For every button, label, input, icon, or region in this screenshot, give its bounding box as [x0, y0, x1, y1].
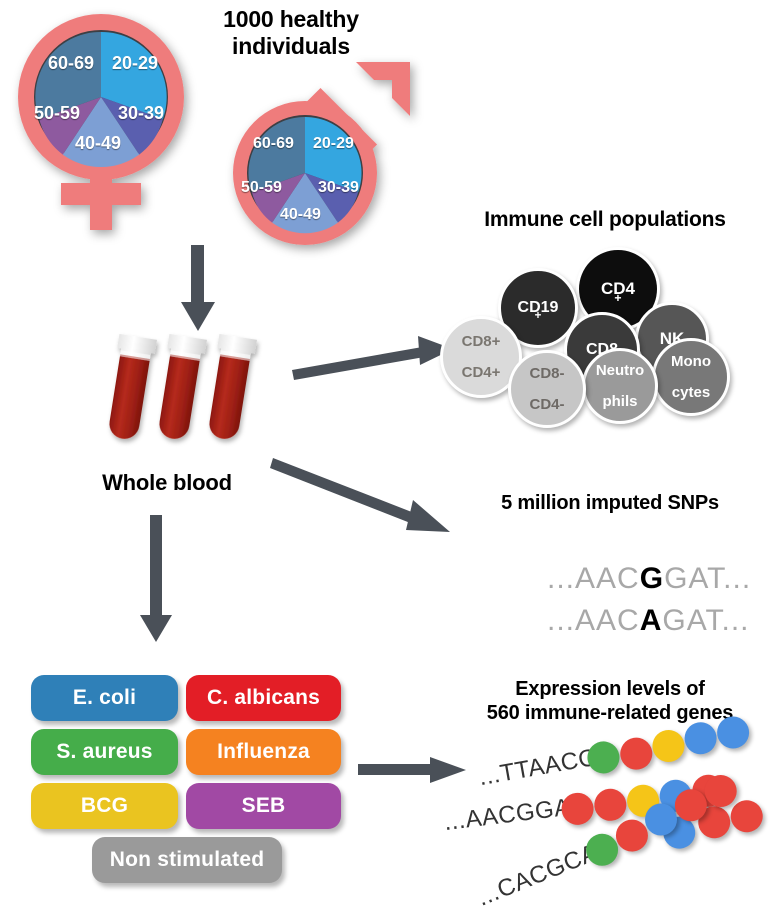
- stimulus-seb[interactable]: SEB: [186, 783, 341, 829]
- cell-cd8-pos-cd4-pos-line1: CD8+: [462, 334, 501, 349]
- snp-row2-suffix: GAT...: [662, 604, 749, 637]
- arrow-blood-to-stimuli: [132, 515, 182, 645]
- blood-tubes: [100, 330, 280, 460]
- expression-heading: Expression levels of 560 immune-related …: [455, 678, 765, 725]
- female-symbol-shape: [6, 8, 196, 238]
- whole-blood-label: Whole blood: [72, 470, 262, 496]
- female-age-pie: [35, 32, 166, 167]
- cell-monocytes-line1: Mono: [671, 354, 711, 369]
- blood-tube-3: [203, 334, 257, 442]
- snp-sequences: ...AACGGAT... ...AACAGAT...: [485, 528, 750, 610]
- male-age-pie: [248, 117, 361, 233]
- female-symbol: 20-29 30-39 40-49 50-59 60-69: [6, 8, 196, 238]
- immune-cell-cluster: CD4+ CD19+ NK CD8+ CD8+ CD4+ Mono cytes …: [440, 240, 770, 420]
- stimulus-c-albicans[interactable]: C. albicans: [186, 675, 341, 721]
- cell-cd8-pos-cd4-pos-line2: CD4+: [462, 365, 501, 380]
- strand-1-bead-3: [650, 727, 687, 764]
- snp-allele-row-2: ...AACAGAT...: [491, 570, 750, 672]
- cell-cd8-neg-cd4-neg-line1: CD8-: [529, 366, 564, 381]
- cell-neutrophils: Neutro phils: [582, 348, 658, 424]
- snp-row2-variant: A: [640, 604, 663, 637]
- stimulus-bcg-label: BCG: [81, 794, 128, 818]
- male-symbol: 20-29 30-39 40-49 50-59 60-69: [200, 48, 430, 248]
- cell-monocytes: Mono cytes: [652, 338, 730, 416]
- cell-neutrophils-line2: phils: [596, 394, 644, 409]
- stimulus-s-aureus-label: S. aureus: [56, 740, 152, 764]
- stimulus-non-stimulated-label: Non stimulated: [110, 848, 264, 872]
- stimulus-influenza-label: Influenza: [217, 740, 310, 764]
- cell-neutrophils-line1: Neutro: [596, 363, 644, 378]
- arrow-stimuli-to-expression: [358, 752, 468, 792]
- stimulus-e-coli-label: E. coli: [73, 686, 136, 710]
- expression-heading-line1: Expression levels of: [455, 678, 765, 702]
- stimulus-seb-label: SEB: [242, 794, 286, 818]
- stimulus-s-aureus[interactable]: S. aureus: [31, 729, 178, 775]
- stimuli-panel: E. coli C. albicans S. aureus Influenza …: [28, 672, 348, 902]
- arrow-blood-to-immune: [290, 325, 455, 385]
- cohort-heading-line1: 1000 healthy: [166, 6, 416, 33]
- snps-heading: 5 million imputed SNPs: [460, 492, 760, 516]
- cell-cd8-neg-cd4-neg: CD8- CD4-: [508, 350, 586, 428]
- blood-tube-1: [103, 334, 157, 442]
- stimulus-non-stimulated[interactable]: Non stimulated: [92, 837, 282, 883]
- strand-1-bead-4: [682, 720, 719, 757]
- cell-cd8-neg-cd4-neg-line2: CD4-: [529, 397, 564, 412]
- figure-canvas: 1000 healthy individuals: [0, 0, 771, 922]
- arrow-blood-to-snps: [270, 450, 460, 545]
- snp-row2-prefix: ...AAC: [547, 604, 640, 637]
- stimulus-influenza[interactable]: Influenza: [186, 729, 341, 775]
- male-symbol-shape: [200, 48, 430, 248]
- arrow-cohort-to-blood: [178, 245, 218, 335]
- strand-1-bead-2: [618, 735, 655, 772]
- immune-heading: Immune cell populations: [440, 208, 770, 233]
- cell-monocytes-line2: cytes: [671, 385, 711, 400]
- stimulus-e-coli[interactable]: E. coli: [31, 675, 178, 721]
- stimulus-c-albicans-label: C. albicans: [207, 686, 320, 710]
- expression-strands: ...TTAACGG ...AACGGAT ...CACGCAA: [455, 740, 771, 915]
- blood-tubes-shape: [100, 330, 280, 460]
- stimulus-bcg[interactable]: BCG: [31, 783, 178, 829]
- blood-tube-2: [153, 334, 207, 442]
- expression-heading-line2: 560 immune-related genes: [455, 702, 765, 726]
